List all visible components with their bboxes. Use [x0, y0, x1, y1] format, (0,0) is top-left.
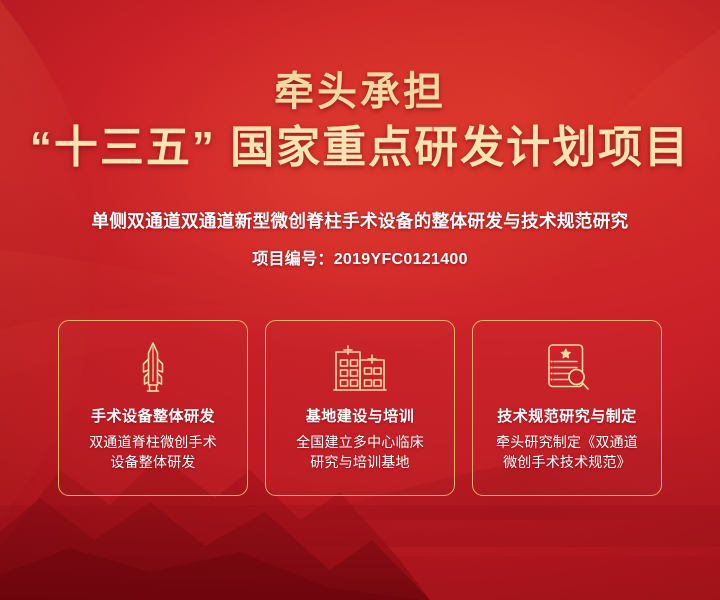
- card-description: 牵头研究制定《双通道 微创手术技术规范》: [483, 433, 651, 473]
- project-subtitle: 单侧双通道双通道新型微创脊柱手术设备的整体研发与技术规范研究: [0, 208, 720, 233]
- card-description: 双通道脊柱微创手术 设备整体研发: [69, 433, 237, 473]
- feature-card-standards[interactable]: 技术规范研究与制定 牵头研究制定《双通道 微创手术技术规范》: [472, 320, 662, 496]
- feature-card-list: 手术设备整体研发 双通道脊柱微创手术 设备整体研发: [58, 320, 662, 496]
- project-number: 项目编号：2019YFC0121400: [0, 245, 720, 269]
- page-title-main: 牵头承担: [0, 72, 720, 112]
- headline-block: 牵头承担 “十三五” 国家重点研发计划项目: [0, 72, 720, 172]
- feature-card-equipment-rnd[interactable]: 手术设备整体研发 双通道脊柱微创手术 设备整体研发: [58, 320, 248, 496]
- rocket-icon: [136, 341, 170, 395]
- poster-root: 牵头承担 “十三五” 国家重点研发计划项目 单侧双通道双通道新型微创脊柱手术设备…: [0, 0, 720, 600]
- card-title: 基地建设与培训: [306, 405, 415, 426]
- hospital-icon: [332, 341, 388, 395]
- feature-card-base-training[interactable]: 基地建设与培训 全国建立多中心临床 研究与培训基地: [265, 320, 455, 496]
- document-search-icon: [541, 341, 593, 395]
- card-title: 技术规范研究与制定: [497, 405, 637, 426]
- card-description: 全国建立多中心临床 研究与培训基地: [276, 433, 444, 473]
- card-title: 手术设备整体研发: [91, 405, 215, 426]
- page-title-sub: “十三五” 国家重点研发计划项目: [0, 124, 720, 172]
